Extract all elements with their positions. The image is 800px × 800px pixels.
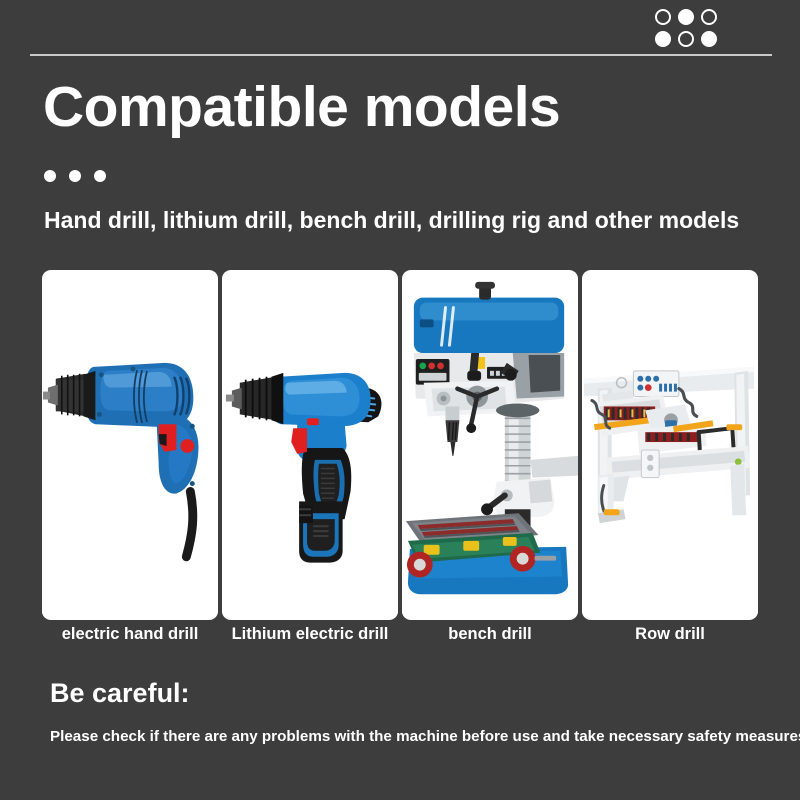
bullet-dot-marker — [44, 170, 106, 182]
bullet-dot-icon — [94, 170, 106, 182]
product-card-row — [42, 270, 758, 620]
warning-heading: Be careful: — [50, 678, 190, 709]
product-card-electric-hand-drill — [42, 270, 218, 620]
bullet-dot-icon — [69, 170, 81, 182]
page-title: Compatible models — [43, 78, 560, 138]
page-subtitle: Hand drill, lithium drill, bench drill, … — [44, 207, 784, 234]
dot-hollow-icon — [655, 9, 671, 25]
warning-body: Please check if there are any problems w… — [50, 728, 780, 745]
bench-drill-press-image — [402, 270, 578, 620]
caption-electric-hand-drill: electric hand drill — [42, 625, 218, 644]
caption-bench-drill: bench drill — [402, 625, 578, 644]
dot-filled-icon — [701, 31, 717, 47]
dot-filled-icon — [678, 9, 694, 25]
corded-electric-hand-drill-image — [42, 270, 218, 620]
row-drill-boring-machine-image — [582, 270, 758, 620]
product-card-row-drill — [582, 270, 758, 620]
product-caption-row: electric hand drill Lithium electric dri… — [42, 625, 758, 644]
caption-row-drill: Row drill — [582, 625, 758, 644]
caption-lithium-electric-drill: Lithium electric drill — [222, 625, 398, 644]
infographic-page: Compatible models Hand drill, lithium dr… — [0, 0, 800, 800]
product-card-lithium-electric-drill — [222, 270, 398, 620]
decorative-dot-grid — [655, 9, 719, 49]
bullet-dot-icon — [44, 170, 56, 182]
header-divider — [30, 54, 772, 56]
dot-hollow-icon — [701, 9, 717, 25]
dot-filled-icon — [655, 31, 671, 47]
dot-hollow-icon — [678, 31, 694, 47]
product-card-bench-drill — [402, 270, 578, 620]
cordless-lithium-drill-image — [222, 270, 398, 620]
